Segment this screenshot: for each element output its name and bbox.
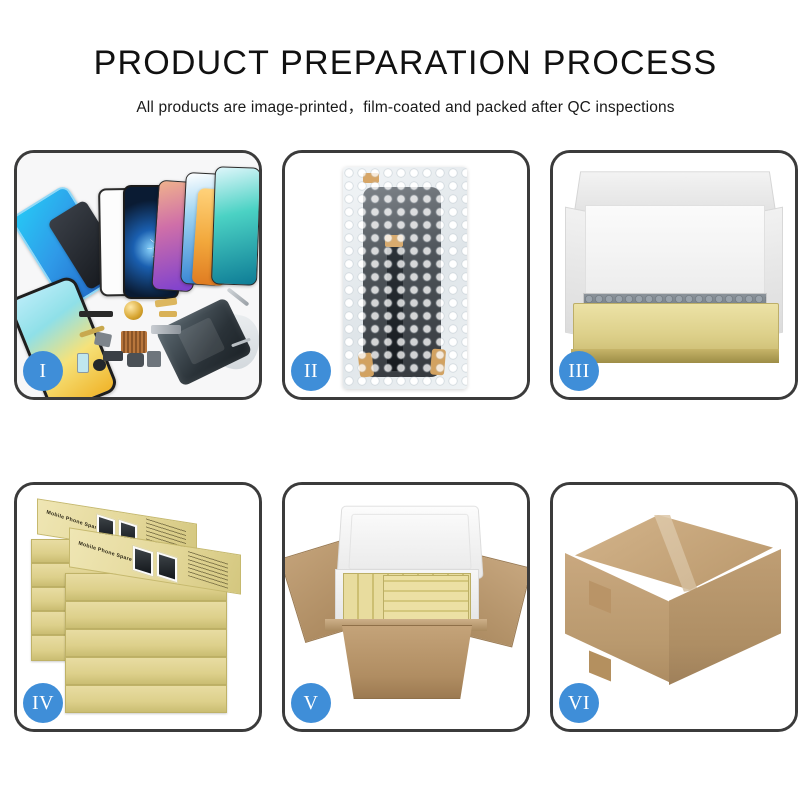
product-preparation-infographic: PRODUCT PREPARATION PROCESS All products… — [0, 0, 811, 811]
step-panel-5: V — [282, 482, 530, 732]
box-spec-lines-front — [188, 550, 228, 589]
stack-box-front-3 — [65, 629, 227, 657]
carton-tab-lower — [589, 651, 611, 682]
step-badge-6: VI — [559, 683, 599, 723]
carton-front-wall — [333, 625, 481, 699]
tweezers-tool — [227, 287, 250, 306]
stack-box-front-4 — [65, 657, 227, 685]
step-panel-6: VI — [550, 482, 798, 732]
sealed-carton — [565, 507, 783, 707]
steps-grid: I II — [14, 150, 797, 732]
page-title: PRODUCT PREPARATION PROCESS — [0, 44, 811, 83]
flex-cable-a — [155, 298, 178, 308]
box-thumb-front-1 — [132, 545, 154, 578]
foam-box-lid — [336, 506, 483, 579]
gold-box-base — [571, 349, 779, 363]
gold-boxes-row-right — [383, 575, 469, 621]
small-part-3 — [127, 353, 144, 367]
gold-component — [124, 301, 143, 320]
bubble-wrap-bag — [343, 167, 467, 389]
header: PRODUCT PREPARATION PROCESS All products… — [0, 0, 811, 117]
step-badge-5: V — [291, 683, 331, 723]
stack-box-front-2 — [65, 601, 227, 629]
foam-sheet — [585, 205, 765, 299]
phone-teal-screen — [211, 166, 259, 286]
connector-strip — [79, 311, 113, 317]
page-subtitle: All products are image-printed，film-coat… — [0, 95, 811, 117]
step-panel-2: II — [282, 150, 530, 400]
step-badge-3: III — [559, 351, 599, 391]
stack-box-front-5 — [65, 685, 227, 713]
bubble-texture-overlay — [343, 167, 467, 389]
step-panel-1: I — [14, 150, 262, 400]
small-part-5 — [77, 353, 89, 373]
box-thumb-front-2 — [156, 550, 178, 583]
logic-chip — [121, 331, 147, 353]
flex-cable-b — [159, 311, 177, 317]
gold-box-stack: Mobile Phone Spare Parts Mobile Phone Sp… — [25, 507, 253, 713]
step-badge-4: IV — [23, 683, 63, 723]
small-part-4 — [147, 351, 161, 367]
flex-cable-c — [151, 325, 181, 334]
step-panel-4: Mobile Phone Spare Parts Mobile Phone Sp… — [14, 482, 262, 732]
small-part-2 — [103, 351, 123, 361]
step-badge-1: I — [23, 351, 63, 391]
small-part-6 — [93, 359, 106, 371]
step-badge-2: II — [291, 351, 331, 391]
step-panel-3: III — [550, 150, 798, 400]
